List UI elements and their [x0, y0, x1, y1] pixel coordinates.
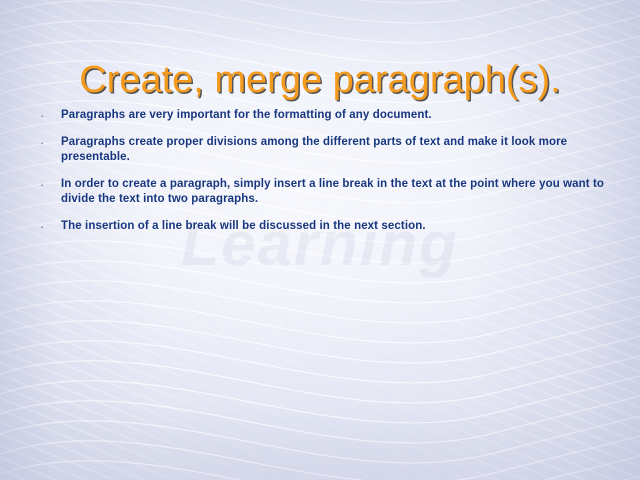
list-item-text: The insertion of a line break will be di… [61, 219, 608, 235]
bullet-dot-icon: · [36, 135, 61, 150]
slide-title: Create, merge paragraph(s). [0, 59, 640, 102]
list-item: · The insertion of a line break will be … [36, 219, 608, 235]
list-item-text: In order to create a paragraph, simply i… [61, 177, 608, 208]
slide-body-bullet-list: · Paragraphs are very important for the … [36, 108, 608, 245]
list-item: · Paragraphs create proper divisions amo… [36, 135, 608, 166]
list-item-text: Paragraphs are very important for the fo… [61, 108, 608, 124]
presentation-slide: Learning Create, merge paragraph(s). · P… [0, 0, 640, 480]
list-item: · In order to create a paragraph, simply… [36, 177, 608, 208]
bullet-dot-icon: · [36, 108, 61, 123]
bullet-dot-icon: · [36, 177, 61, 192]
list-item-text: Paragraphs create proper divisions among… [61, 135, 608, 166]
bullet-dot-icon: · [36, 219, 61, 234]
list-item: · Paragraphs are very important for the … [36, 108, 608, 124]
